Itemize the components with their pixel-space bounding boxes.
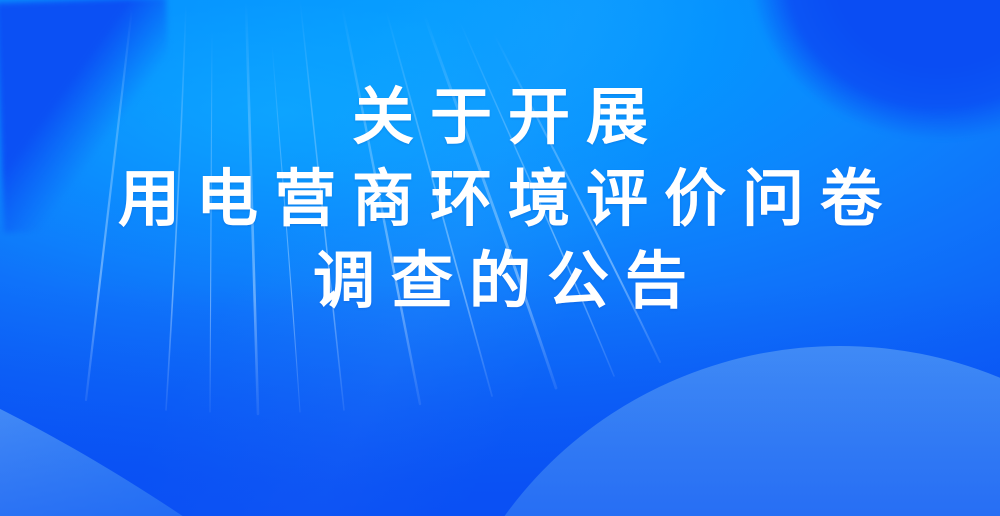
title-line-2: 用电营商环境评价问卷 bbox=[0, 168, 1000, 230]
banner-title: 关于开展 用电营商环境评价问卷 调查的公告 bbox=[0, 86, 1000, 312]
bottom-light-arc-decoration bbox=[430, 346, 1000, 516]
bottom-left-leaf-wedge-decoration bbox=[0, 386, 270, 516]
title-line-1: 关于开展 bbox=[0, 86, 1000, 148]
title-line-3: 调查的公告 bbox=[0, 250, 1000, 312]
announcement-banner: 关于开展 用电营商环境评价问卷 调查的公告 bbox=[0, 0, 1000, 516]
